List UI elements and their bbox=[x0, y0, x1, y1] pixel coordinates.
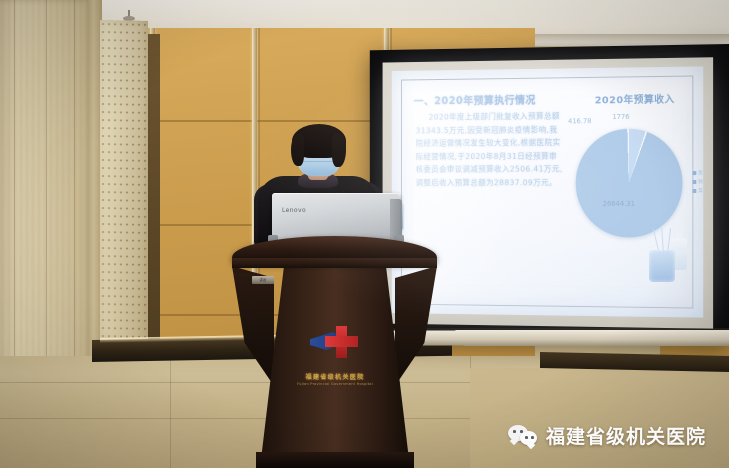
legend-swatch-icon bbox=[692, 189, 696, 193]
legend-item: 财政拨款收入 bbox=[692, 179, 703, 185]
podium-base bbox=[256, 452, 414, 468]
podium-nameplate-label: 讲台 bbox=[253, 277, 273, 282]
screenshot-root: 一、2020年预算执行情况 2020年度上级部门批复收入预算总额31343.5万… bbox=[0, 0, 729, 468]
wechat-icon bbox=[508, 423, 538, 447]
pie-slices bbox=[576, 128, 683, 237]
hospital-name-cn: 福建省级机关医院 bbox=[290, 372, 380, 381]
hospital-name-en: Fujian Provincial Government Hospital bbox=[284, 382, 386, 386]
wall-recess-slot bbox=[148, 34, 160, 364]
legend-label: 其他收入 bbox=[698, 188, 703, 194]
slide-body-text: 2020年度上级部门批复收入预算总额31343.5万元,因受新冠肺炎疫情影响,我… bbox=[416, 110, 564, 190]
pie-label-medical: 26644.31 bbox=[603, 200, 635, 208]
chart-legend: 医疗服务收入 财政拨款收入 其他收入 bbox=[692, 170, 703, 197]
legend-label: 医疗服务收入 bbox=[698, 170, 703, 176]
podium-lip bbox=[232, 258, 437, 268]
podium-wing-left bbox=[232, 266, 274, 386]
watermark-text: 福建省级机关医院 bbox=[546, 422, 706, 449]
legend-swatch-icon bbox=[692, 180, 696, 184]
slide-title: 一、2020年预算执行情况 bbox=[414, 92, 564, 108]
legend-item: 医疗服务收入 bbox=[692, 170, 703, 176]
laptop-brand-label: Lenovo bbox=[282, 207, 306, 214]
hospital-cross-emblem-icon bbox=[306, 324, 364, 368]
reed-diffuser bbox=[649, 236, 675, 282]
legend-item: 其他收入 bbox=[692, 188, 703, 194]
podium: 讲台 福建省级机关医院 Fujian Provincial Government… bbox=[232, 236, 437, 468]
pie-label-fiscal: 1776 bbox=[612, 113, 629, 121]
legend-swatch-icon bbox=[692, 171, 696, 175]
presenter-hair-right bbox=[332, 133, 346, 167]
watermark: 福建省级机关医院 bbox=[508, 420, 706, 450]
legend-label: 财政拨款收入 bbox=[698, 179, 703, 185]
chart-title: 2020年预算收入 bbox=[572, 90, 698, 106]
presenter-hair-left bbox=[291, 134, 304, 166]
floor-right-section bbox=[470, 368, 729, 468]
podium-wing-right bbox=[395, 266, 437, 386]
pie-label-other: 416.78 bbox=[568, 117, 592, 125]
